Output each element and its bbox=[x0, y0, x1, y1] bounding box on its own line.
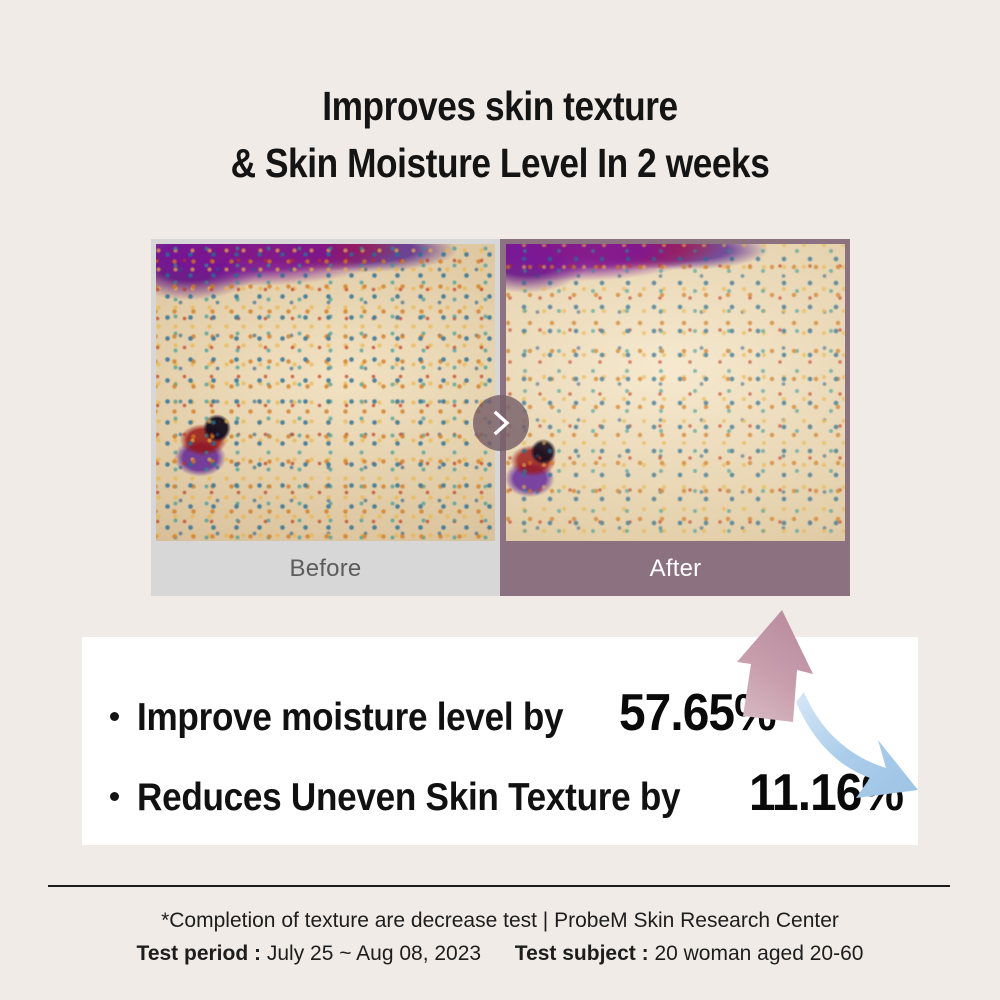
after-label: After bbox=[506, 541, 845, 596]
test-period-value: July 25 ~ Aug 08, 2023 bbox=[267, 942, 481, 965]
skin-texture-dots bbox=[506, 244, 845, 541]
test-subject-value: 20 woman aged 20-60 bbox=[654, 942, 863, 965]
test-period-label: Test period : bbox=[137, 942, 261, 965]
page-title: Improves skin texture & Skin Moisture Le… bbox=[0, 82, 1000, 188]
after-panel: After bbox=[501, 239, 850, 596]
bullet-icon bbox=[110, 712, 119, 721]
result-label: Improve moisture level by bbox=[137, 696, 563, 740]
skin-texture-dots bbox=[156, 244, 495, 541]
before-after-comparison: Before After bbox=[151, 239, 850, 596]
chevron-right-icon[interactable] bbox=[473, 395, 529, 451]
bullet-icon bbox=[110, 792, 119, 801]
test-subject-label: Test subject : bbox=[515, 942, 649, 965]
before-panel: Before bbox=[151, 239, 500, 596]
before-skin-microscope-image bbox=[156, 244, 495, 541]
page-title-line-1: Improves skin texture bbox=[70, 82, 930, 130]
result-value: 11.16% bbox=[749, 763, 903, 823]
result-label: Reduces Uneven Skin Texture by bbox=[137, 776, 680, 820]
page-title-line-2: & Skin Moisture Level In 2 weeks bbox=[70, 139, 930, 187]
before-label: Before bbox=[156, 541, 495, 596]
after-skin-microscope-image bbox=[506, 244, 845, 541]
footer-divider bbox=[48, 885, 950, 887]
results-panel: Improve moisture level by 57.65% Reduces… bbox=[82, 637, 918, 845]
result-item: Reduces Uneven Skin Texture by 11.16% bbox=[110, 763, 916, 823]
result-value: 57.65% bbox=[619, 683, 776, 743]
result-item: Improve moisture level by 57.65% bbox=[110, 683, 789, 743]
footer-meta: Test period : July 25 ~ Aug 08, 2023 Tes… bbox=[0, 938, 1000, 971]
footer-note: *Completion of texture are decrease test… bbox=[0, 905, 1000, 938]
footer: *Completion of texture are decrease test… bbox=[0, 905, 1000, 970]
